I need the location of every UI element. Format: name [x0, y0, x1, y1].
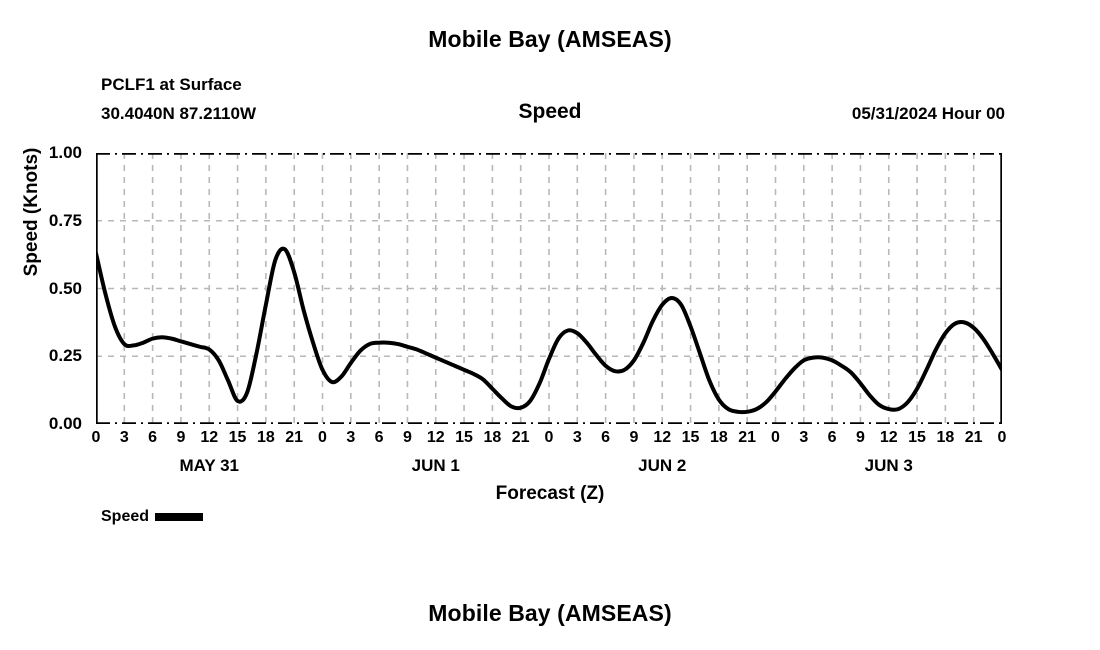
station-label: PCLF1 at Surface	[101, 75, 242, 95]
x-tick-label: 0	[982, 430, 1022, 446]
x-axis-tick-labels: 0369121518210369121518210369121518210369…	[0, 430, 1100, 452]
speed-line-chart	[96, 153, 1002, 424]
chart-page: Mobile Bay (AMSEAS) PCLF1 at Surface 30.…	[0, 0, 1100, 650]
x-axis-title: Forecast (Z)	[0, 483, 1100, 505]
y-axis-tick-labels: 0.000.250.500.751.00	[20, 0, 82, 650]
legend-swatch-speed	[155, 513, 203, 521]
plot-area	[96, 153, 1002, 424]
page-title: Mobile Bay (AMSEAS)	[0, 26, 1100, 53]
y-tick-label: 0.50	[20, 280, 82, 297]
x-day-label: JUN 2	[592, 457, 732, 474]
x-day-label: JUN 1	[366, 457, 506, 474]
y-tick-label: 1.00	[20, 144, 82, 161]
x-day-label: MAY 31	[139, 457, 279, 474]
model-run-label: 05/31/2024 Hour 00	[852, 104, 1005, 124]
legend-label-speed: Speed	[101, 509, 149, 525]
y-tick-label: 0.75	[20, 212, 82, 229]
footer-title: Mobile Bay (AMSEAS)	[0, 600, 1100, 627]
y-tick-label: 0.25	[20, 347, 82, 364]
x-day-label: JUN 3	[819, 457, 959, 474]
x-axis-day-labels: MAY 31JUN 1JUN 2JUN 3	[0, 457, 1100, 481]
legend: Speed	[101, 509, 203, 525]
